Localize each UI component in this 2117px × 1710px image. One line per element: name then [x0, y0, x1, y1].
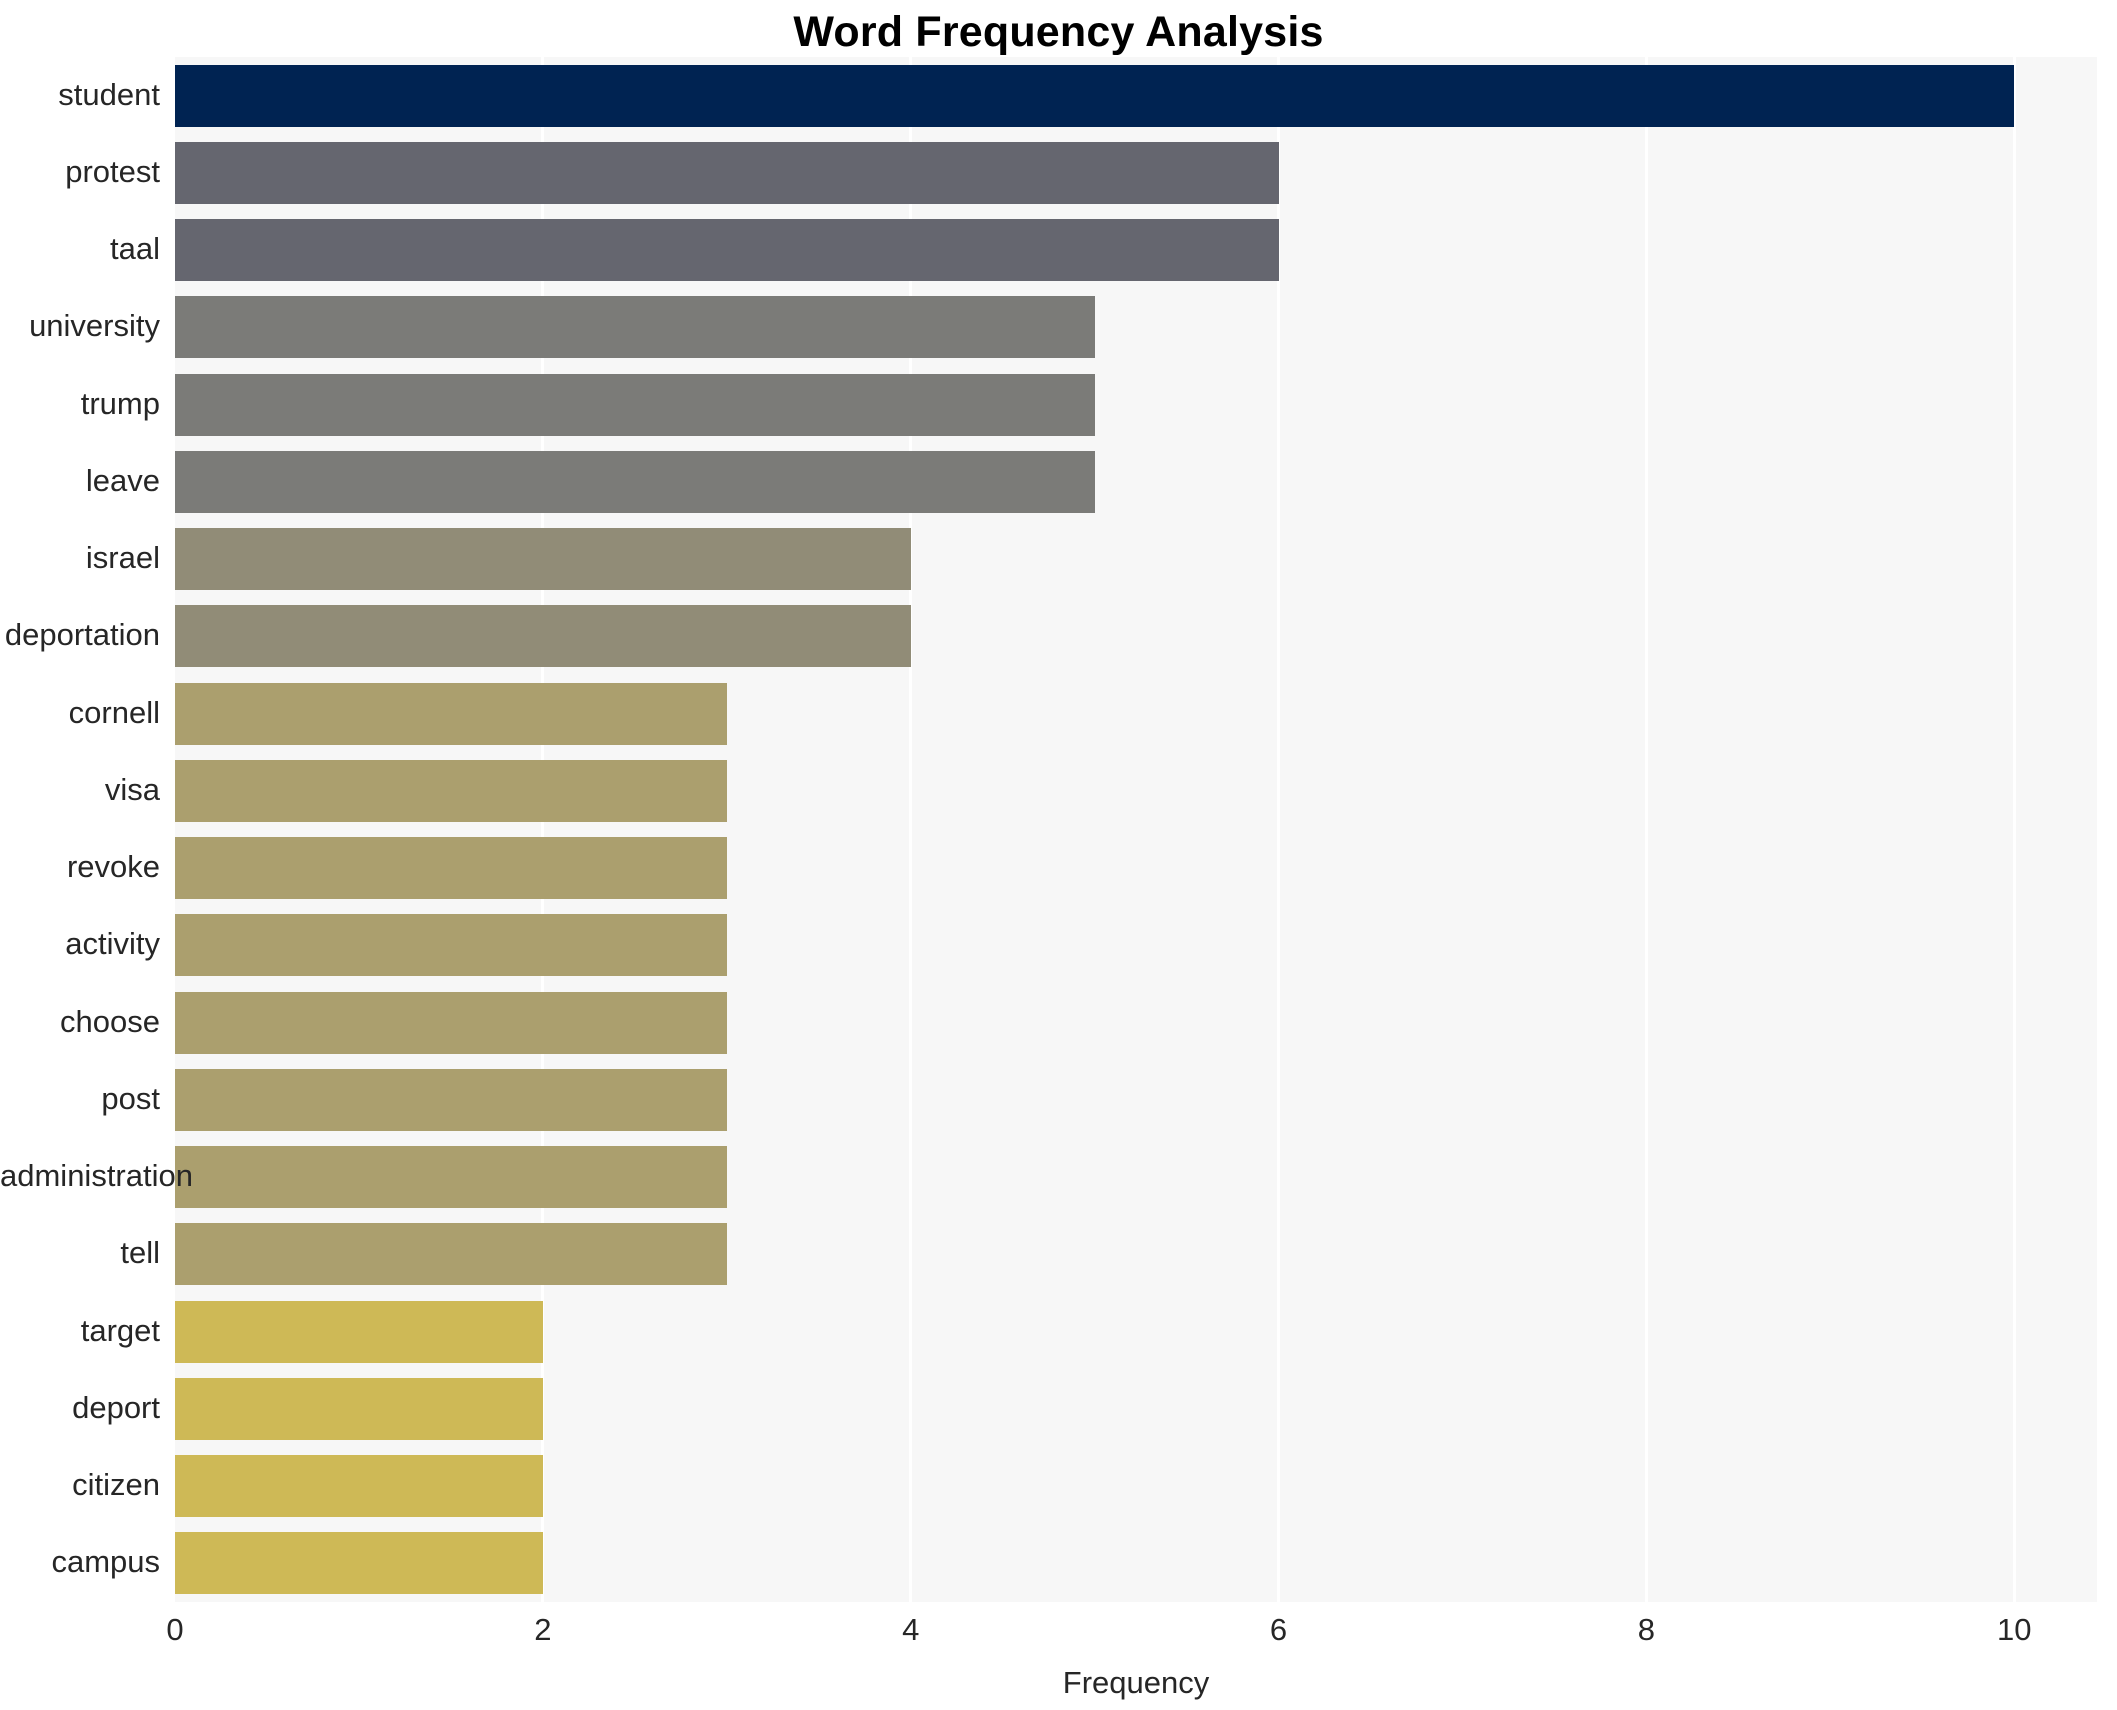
bar-target[interactable]: [175, 1301, 543, 1363]
bar-row: [175, 142, 2097, 204]
x-tick-label-8: 8: [1638, 1612, 1655, 1648]
bar-row: [175, 528, 2097, 590]
x-tick-label-4: 4: [902, 1612, 919, 1648]
bar-row: [175, 451, 2097, 513]
y-axis-label-citizen: citizen: [0, 1467, 160, 1503]
bar-row: [175, 1069, 2097, 1131]
bar-row: [175, 374, 2097, 436]
y-axis-label-post: post: [0, 1081, 160, 1117]
bar-row: [175, 1532, 2097, 1594]
y-axis-label-trump: trump: [0, 386, 160, 422]
y-axis-label-taal: taal: [0, 231, 160, 267]
bar-cornell[interactable]: [175, 683, 727, 745]
bar-revoke[interactable]: [175, 837, 727, 899]
x-tick-label-10: 10: [1997, 1612, 2031, 1648]
chart-figure: Word Frequency Analysis studentprotestta…: [0, 0, 2117, 1710]
bar-campus[interactable]: [175, 1532, 543, 1594]
y-axis-label-campus: campus: [0, 1544, 160, 1580]
bar-row: [175, 683, 2097, 745]
y-axis-label-revoke: revoke: [0, 849, 160, 885]
bar-trump[interactable]: [175, 374, 1095, 436]
bar-tell[interactable]: [175, 1223, 727, 1285]
y-axis-label-student: student: [0, 77, 160, 113]
bar-administration[interactable]: [175, 1146, 727, 1208]
y-axis-labels: studentprotesttaaluniversitytrumpleaveis…: [0, 57, 160, 1602]
chart-title: Word Frequency Analysis: [0, 8, 2117, 57]
x-tick-label-6: 6: [1270, 1612, 1287, 1648]
bar-israel[interactable]: [175, 528, 911, 590]
bar-deport[interactable]: [175, 1378, 543, 1440]
y-axis-label-deportation: deportation: [0, 617, 160, 653]
y-axis-label-cornell: cornell: [0, 695, 160, 731]
x-tick-label-0: 0: [166, 1612, 183, 1648]
plot-area: [175, 57, 2097, 1602]
y-axis-label-tell: tell: [0, 1235, 160, 1271]
bar-deportation[interactable]: [175, 605, 911, 667]
bar-student[interactable]: [175, 65, 2014, 127]
bar-row: [175, 296, 2097, 358]
y-axis-label-deport: deport: [0, 1390, 160, 1426]
y-axis-label-leave: leave: [0, 463, 160, 499]
y-axis-label-target: target: [0, 1313, 160, 1349]
bar-activity[interactable]: [175, 914, 727, 976]
bar-row: [175, 992, 2097, 1054]
y-axis-label-activity: activity: [0, 926, 160, 962]
bars-container: [175, 57, 2097, 1602]
bar-university[interactable]: [175, 296, 1095, 358]
bar-row: [175, 837, 2097, 899]
x-tick-label-2: 2: [534, 1612, 551, 1648]
y-axis-label-visa: visa: [0, 772, 160, 808]
bar-visa[interactable]: [175, 760, 727, 822]
bar-row: [175, 219, 2097, 281]
y-axis-label-choose: choose: [0, 1004, 160, 1040]
y-axis-label-administration: administration: [0, 1158, 160, 1194]
bar-row: [175, 1378, 2097, 1440]
y-axis-label-israel: israel: [0, 540, 160, 576]
bar-row: [175, 1455, 2097, 1517]
bar-row: [175, 65, 2097, 127]
x-axis-ticks: 0246810: [0, 1612, 2117, 1662]
y-axis-label-university: university: [0, 308, 160, 344]
y-axis-label-protest: protest: [0, 154, 160, 190]
x-axis-title: Frequency: [175, 1665, 2097, 1701]
bar-row: [175, 605, 2097, 667]
bar-row: [175, 760, 2097, 822]
bar-choose[interactable]: [175, 992, 727, 1054]
bar-taal[interactable]: [175, 219, 1279, 281]
bar-row: [175, 914, 2097, 976]
bar-post[interactable]: [175, 1069, 727, 1131]
bar-row: [175, 1146, 2097, 1208]
bar-row: [175, 1301, 2097, 1363]
bar-row: [175, 1223, 2097, 1285]
bar-leave[interactable]: [175, 451, 1095, 513]
bar-protest[interactable]: [175, 142, 1279, 204]
bar-citizen[interactable]: [175, 1455, 543, 1517]
